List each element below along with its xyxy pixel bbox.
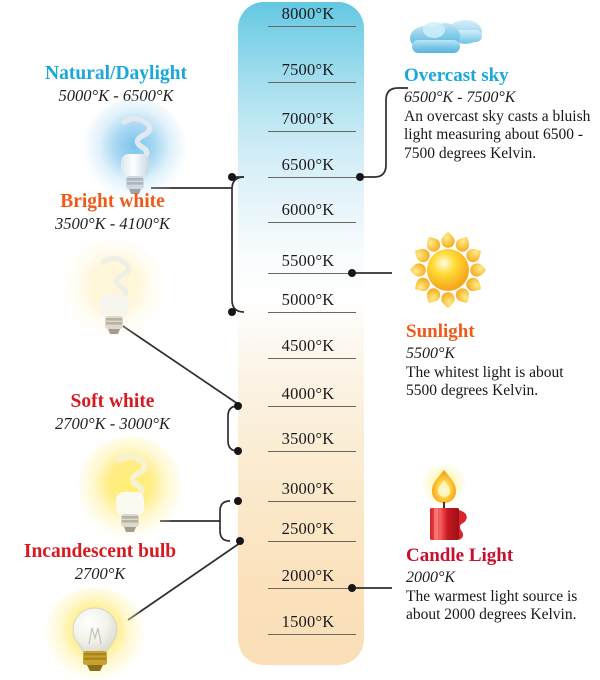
overcast-sky-range: 6500°K - 7500°K [404, 88, 594, 107]
scale-tick-rule [268, 406, 356, 407]
cfl-bulb-soft-white [78, 436, 182, 540]
scale-tick-rule [268, 501, 356, 502]
scale-tick-label: 2500°K [260, 519, 356, 539]
soft-white-title: Soft white [0, 392, 225, 412]
candle-light-range: 2000°K [406, 568, 596, 587]
infographic-canvas: 8000°K7500°K7000°K6500°K6000°K5500°K5000… [0, 0, 600, 679]
incandescent-title: Incandescent bulb [0, 542, 200, 562]
label-soft-white: Soft white 2700°K - 3000°K [0, 392, 225, 434]
overcast-sky-description: An overcast sky casts a bluish light mea… [404, 108, 594, 163]
dot-4000-left [234, 402, 242, 410]
candle-light-description: The warmest light source is about 2000 d… [406, 588, 596, 625]
scale-tick-label: 8000°K [260, 4, 356, 24]
scale-tick-label: 4500°K [260, 336, 356, 356]
scale-tick-rule [268, 451, 356, 452]
scale-tick-rule [268, 634, 356, 635]
sun-icon-wrap [406, 228, 490, 317]
dot-5500-right [348, 269, 356, 277]
candle-light-title: Candle Light [406, 546, 596, 567]
scale-tick-rule [268, 131, 356, 132]
dot-2500-left [236, 537, 244, 545]
block-candle-light: Candle Light 2000°K The warmest light so… [406, 546, 596, 625]
scale-tick-label: 6500°K [260, 155, 356, 175]
scale-tick-rule [268, 273, 356, 274]
scale-tick-label: 1500°K [260, 612, 356, 632]
incandescent-bulb-icon [43, 588, 147, 680]
scale-tick-label: 3000°K [260, 479, 356, 499]
cloud-icon [404, 14, 490, 66]
label-bright-white: Bright white 3500°K - 4100°K [0, 192, 225, 234]
cfl-bulb-icon [83, 98, 187, 202]
sunlight-description: The whitest light is about 5500 degrees … [406, 364, 596, 401]
scale-tick-rule [268, 312, 356, 313]
scale-tick-label: 4000°K [260, 384, 356, 404]
scale-tick-rule [268, 588, 356, 589]
scale-tick-rule [268, 26, 356, 27]
scale-tick-label: 7000°K [260, 109, 356, 129]
scale-tick-rule [268, 222, 356, 223]
dot-2000-right [348, 584, 356, 592]
scale-tick-label: 5000°K [260, 290, 356, 310]
natural-daylight-title: Natural/Daylight [0, 64, 232, 84]
scale-tick-rule [268, 358, 356, 359]
label-incandescent-bulb: Incandescent bulb 2700°K [0, 542, 200, 584]
incandescent-bulb-icon-wrap [43, 588, 147, 680]
scale-tick-label: 7500°K [260, 60, 356, 80]
overcast-sky-title: Overcast sky [404, 66, 594, 87]
bright-white-title: Bright white [0, 192, 225, 212]
dot-6500-left [228, 173, 236, 181]
scale-tick-label: 3500°K [260, 429, 356, 449]
candle-icon-wrap [410, 466, 486, 549]
candle-icon [410, 466, 486, 544]
scale-tick-label: 5500°K [260, 251, 356, 271]
scale-tick-rule [268, 541, 356, 542]
cfl-bulb-natural-daylight [83, 98, 187, 202]
cfl-bulb-icon [78, 436, 182, 540]
bright-white-range: 3500°K - 4100°K [0, 215, 225, 234]
scale-tick-rule [268, 177, 356, 178]
scale-tick-label: 2000°K [260, 566, 356, 586]
soft-white-range: 2700°K - 3000°K [0, 415, 225, 434]
incandescent-range: 2700°K [0, 565, 200, 584]
dot-3000-left [234, 497, 242, 505]
cfl-bulb-bright-white [62, 238, 166, 342]
cfl-bulb-icon [62, 238, 166, 342]
block-sunlight: Sunlight 5500°K The whitest light is abo… [406, 322, 596, 401]
scale-tick-rule [268, 82, 356, 83]
sun-icon [406, 228, 490, 312]
sunlight-range: 5500°K [406, 344, 596, 363]
block-overcast-sky: Overcast sky 6500°K - 7500°K An overcast… [404, 66, 594, 163]
scale-tick-label: 6000°K [260, 200, 356, 220]
dot-5000-left [228, 308, 236, 316]
sunlight-title: Sunlight [406, 322, 596, 343]
dot-6500-right [356, 173, 364, 181]
dot-3500-left [234, 447, 242, 455]
cloud-icon-wrap [404, 14, 490, 71]
